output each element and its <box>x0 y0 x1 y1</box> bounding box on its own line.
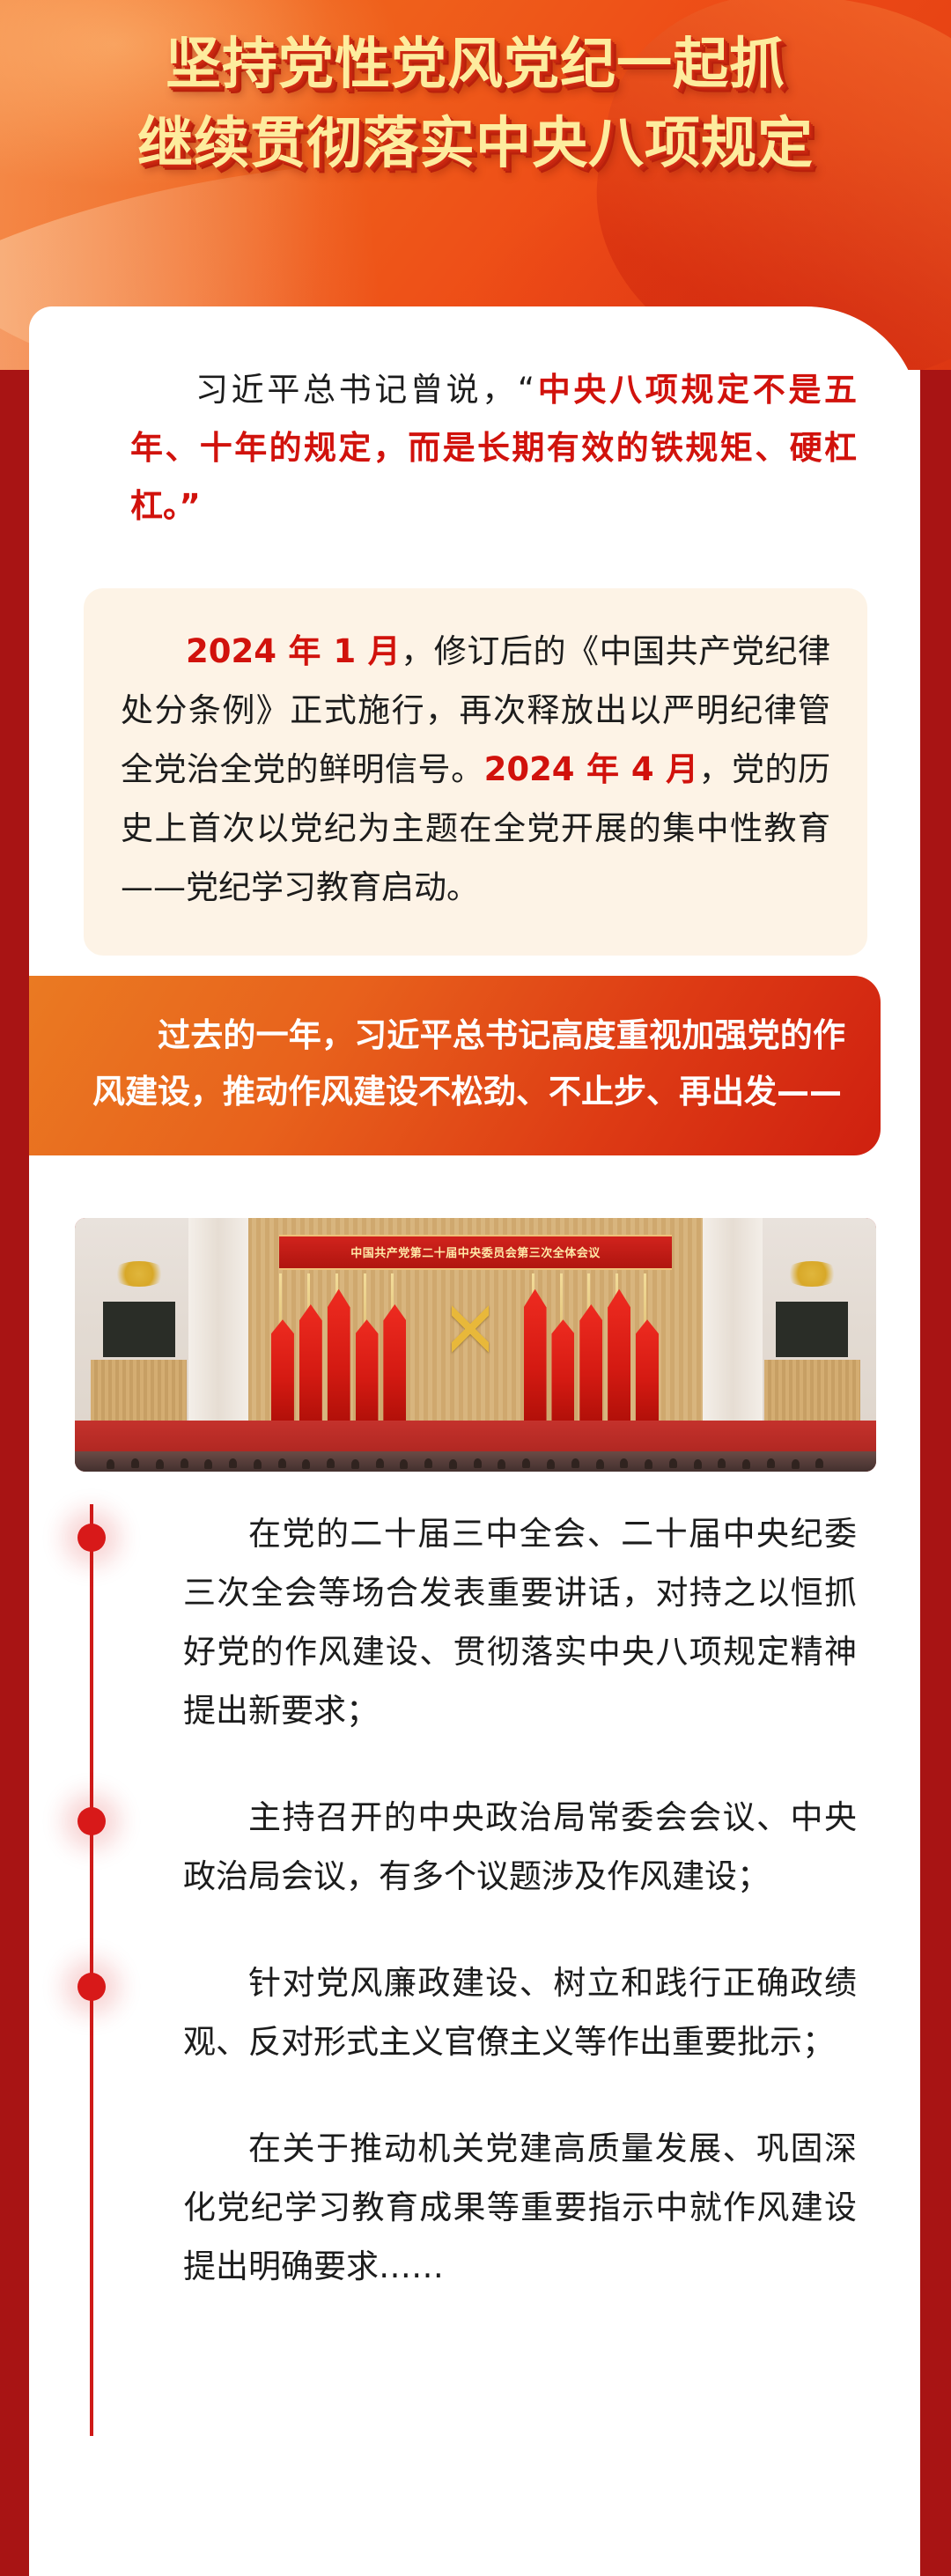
photo-delegate-head <box>547 1459 555 1469</box>
photo-red-flag <box>551 1319 574 1421</box>
timeline-item-text: 在关于推动机关党建高质量发展、巩固深化党纪学习教育成果等重要指示中就作风建设提出… <box>183 2119 857 2296</box>
photo-delegate-head <box>792 1459 800 1469</box>
quote-lead: 习近平总书记曾说，“ <box>195 371 534 409</box>
photo-red-flag <box>383 1304 406 1421</box>
photo-delegate-head <box>424 1458 432 1468</box>
photo-stage-banner: 中国共产党第二十届中央委员会第三次全体会议 <box>279 1235 672 1270</box>
photo-banner-text: 中国共产党第二十届中央委员会第三次全体会议 <box>350 1244 601 1260</box>
photo-red-flag <box>299 1304 322 1421</box>
photo-delegate-head <box>156 1459 164 1469</box>
timeline-list: 在党的二十届三中全会、二十届中央纪委三次全会等场合发表重要讲话，对持之以恒抓好党… <box>29 1504 920 2343</box>
photo-red-flag <box>608 1289 630 1421</box>
photo-red-flag <box>328 1289 350 1421</box>
photo-delegate-head <box>376 1458 384 1468</box>
photo-delegate-head <box>694 1459 702 1469</box>
photo-delegate-head <box>645 1459 652 1469</box>
beige-note-text: 2024 年 1 月，修订后的《中国共产党纪律处分条例》正式施行，再次释放出以严… <box>121 622 830 917</box>
infographic-poster: 坚持党性党风党纪一起抓 继续贯彻落实中央八项规定 习近平总书记曾说，“中央八项规… <box>0 0 951 2576</box>
beige-note-box: 2024 年 1 月，修订后的《中国共产党纪律处分条例》正式施行，再次释放出以严… <box>84 588 867 956</box>
hammer-and-sickle-icon <box>452 1304 489 1354</box>
photo-delegate-head <box>474 1458 482 1468</box>
title-line-2: 继续贯彻落实中央八项规定 <box>0 104 951 183</box>
timeline-item-text: 主持召开的中央政治局常委会会议、中央政治局会议，有多个议题涉及作风建设； <box>183 1788 857 1906</box>
bullet-dot-icon <box>77 1524 106 1552</box>
photo-delegate-head <box>815 1458 823 1468</box>
photo-right-dark-panel <box>776 1302 848 1357</box>
orange-callout-text: 过去的一年，习近平总书记高度重视加强党的作风建设，推动作风建设不松劲、不止步、再… <box>92 1008 845 1120</box>
timeline-item-text: 针对党风廉政建设、树立和践行正确政绩观、反对形式主义官僚主义等作出重要批示； <box>183 1953 857 2071</box>
quote-paragraph: 习近平总书记曾说，“中央八项规定不是五年、十年的规定，而是长期有效的铁规矩、硬杠… <box>130 361 857 535</box>
timeline-item-text: 在党的二十届三中全会、二十届中央纪委三次全会等场合发表重要讲话，对持之以恒抓好党… <box>183 1504 857 1740</box>
photo-delegate-head <box>278 1458 286 1468</box>
photo-left-gold-ornament <box>111 1261 167 1287</box>
photo-red-flag <box>579 1304 602 1421</box>
photo-delegate-head <box>571 1458 579 1468</box>
photo-delegate-head <box>204 1459 212 1469</box>
photo-delegate-head <box>669 1458 677 1468</box>
photo-delegate-head <box>620 1458 628 1468</box>
photo-delegate-head <box>131 1458 139 1468</box>
timeline-item: 在党的二十届三中全会、二十届中央纪委三次全会等场合发表重要讲话，对持之以恒抓好党… <box>29 1504 920 1740</box>
photo-delegate-head <box>742 1459 750 1469</box>
photo-red-flag <box>524 1289 547 1421</box>
photo-right-gold-ornament <box>784 1261 840 1287</box>
photo-red-flag <box>636 1319 659 1421</box>
photo-red-flag <box>271 1319 294 1421</box>
title-line-1: 坚持党性党风党纪一起抓 <box>0 25 951 104</box>
photo-delegate-head <box>400 1459 408 1469</box>
photo-delegate-head <box>229 1458 237 1468</box>
bullet-dot-icon <box>77 1807 106 1835</box>
conference-photo: 中国共产党第二十届中央委员会第三次全体会议 <box>75 1218 876 1472</box>
photo-delegate-head <box>449 1459 457 1469</box>
photo-left-dark-panel <box>103 1302 175 1357</box>
orange-callout-box: 过去的一年，习近平总书记高度重视加强党的作风建设，推动作风建设不松劲、不止步、再… <box>29 976 881 1155</box>
photo-delegate-head <box>351 1459 359 1469</box>
photo-delegate-head <box>596 1459 604 1469</box>
timeline-item: 在关于推动机关党建高质量发展、巩固深化党纪学习教育成果等重要指示中就作风建设提出… <box>29 2119 920 2296</box>
left-red-rail <box>0 0 31 2576</box>
quote-text: 习近平总书记曾说，“中央八项规定不是五年、十年的规定，而是长期有效的铁规矩、硬杠… <box>130 361 857 535</box>
content-card: 习近平总书记曾说，“中央八项规定不是五年、十年的规定，而是长期有效的铁规矩、硬杠… <box>29 306 920 2576</box>
photo-delegate-head <box>498 1459 505 1469</box>
timeline-item: 针对党风廉政建设、树立和践行正确政绩观、反对形式主义官僚主义等作出重要批示； <box>29 1953 920 2071</box>
photo-delegate-head <box>181 1458 188 1468</box>
photo-delegate-head <box>302 1459 310 1469</box>
right-red-rail <box>920 0 951 2576</box>
poster-title: 坚持党性党风党纪一起抓 继续贯彻落实中央八项规定 <box>0 25 951 183</box>
beige-date-1: 2024 年 1 月 <box>186 632 401 670</box>
photo-delegate-head <box>718 1458 726 1468</box>
timeline-item: 主持召开的中央政治局常委会会议、中央政治局会议，有多个议题涉及作风建设； <box>29 1788 920 1906</box>
photo-red-flag <box>356 1319 379 1421</box>
beige-date-2: 2024 年 4 月 <box>484 750 699 788</box>
photo-delegate-head <box>767 1458 775 1468</box>
photo-delegate-head <box>254 1459 262 1469</box>
bullet-dot-icon <box>77 1973 106 2001</box>
photo-delegate-head <box>327 1458 335 1468</box>
photo-delegate-head <box>107 1459 114 1469</box>
photo-delegate-head <box>522 1458 530 1468</box>
